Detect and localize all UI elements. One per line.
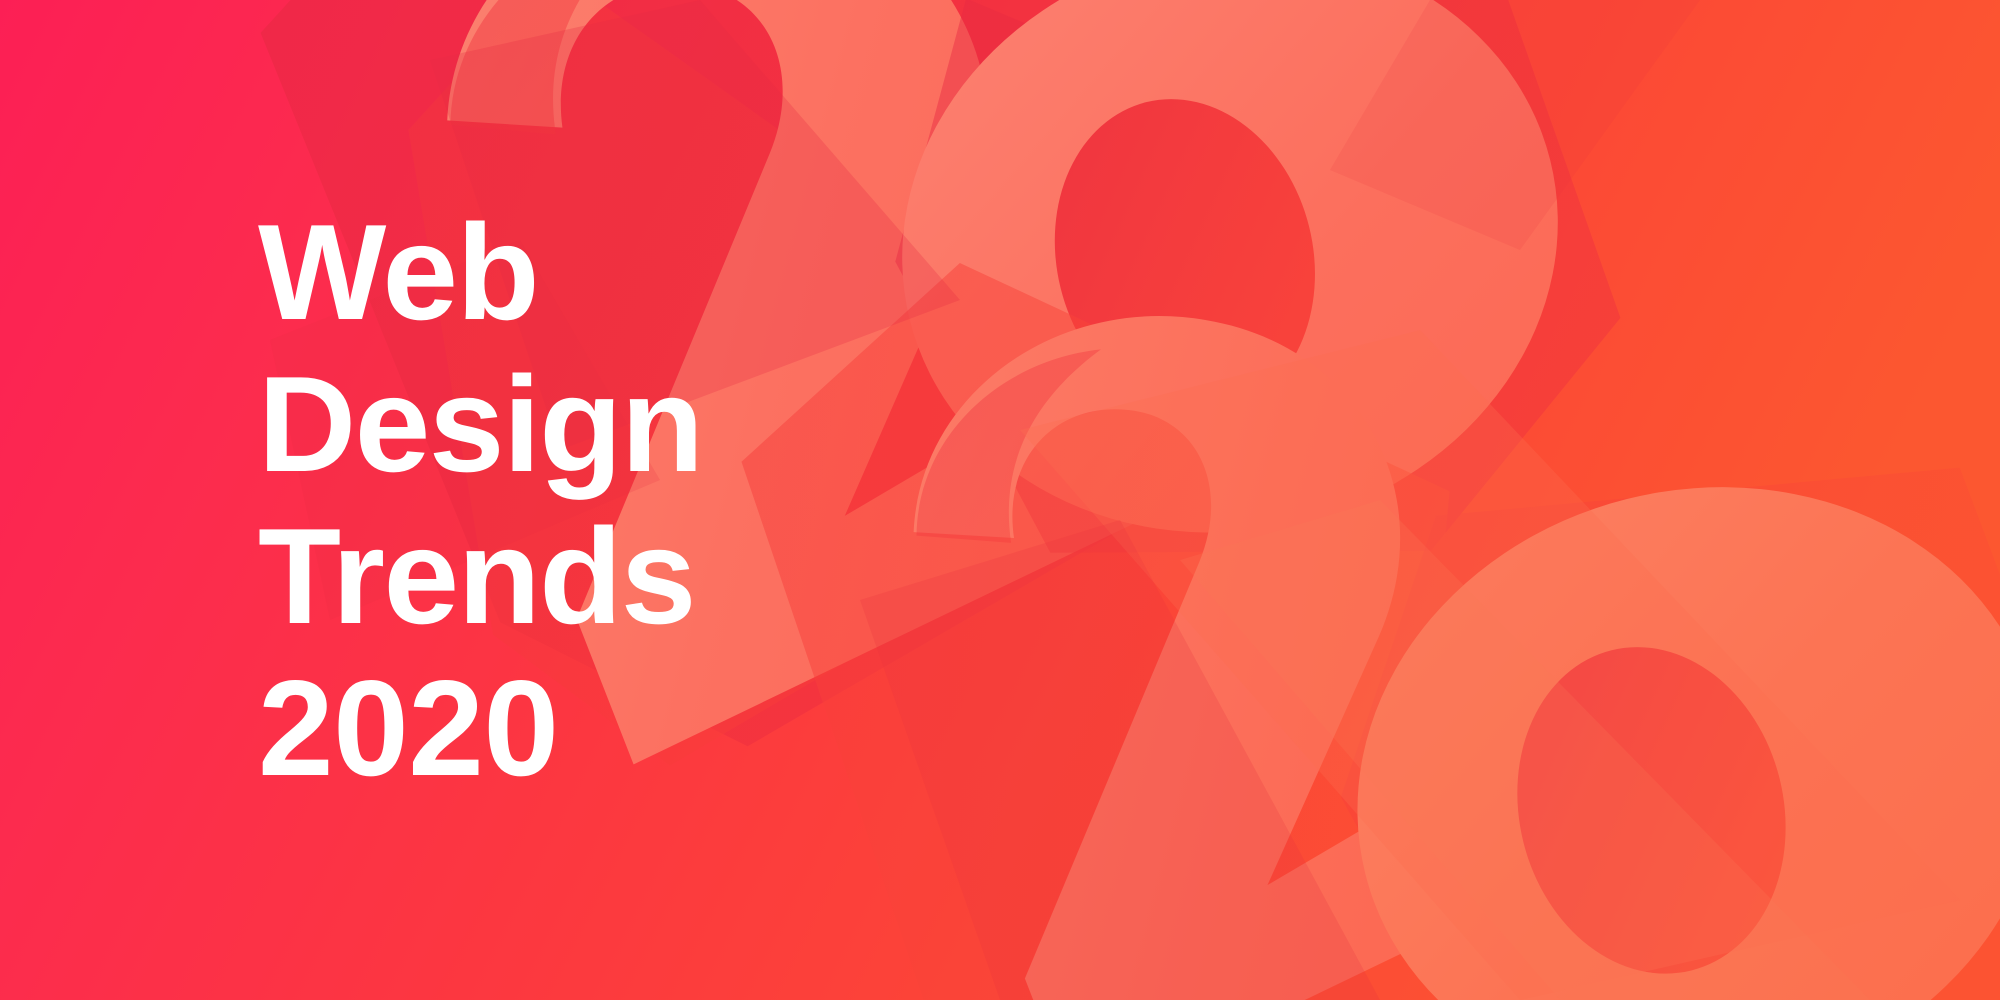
headline-line-trends: Trends [258,500,702,652]
headline-line-year: 2020 [258,652,702,804]
page-title: Web Design Trends 2020 [258,196,702,804]
headline-line-design: Design [258,348,702,500]
hero-banner: Web Design Trends 2020 [0,0,2000,1000]
headline-line-web: Web [258,196,702,348]
